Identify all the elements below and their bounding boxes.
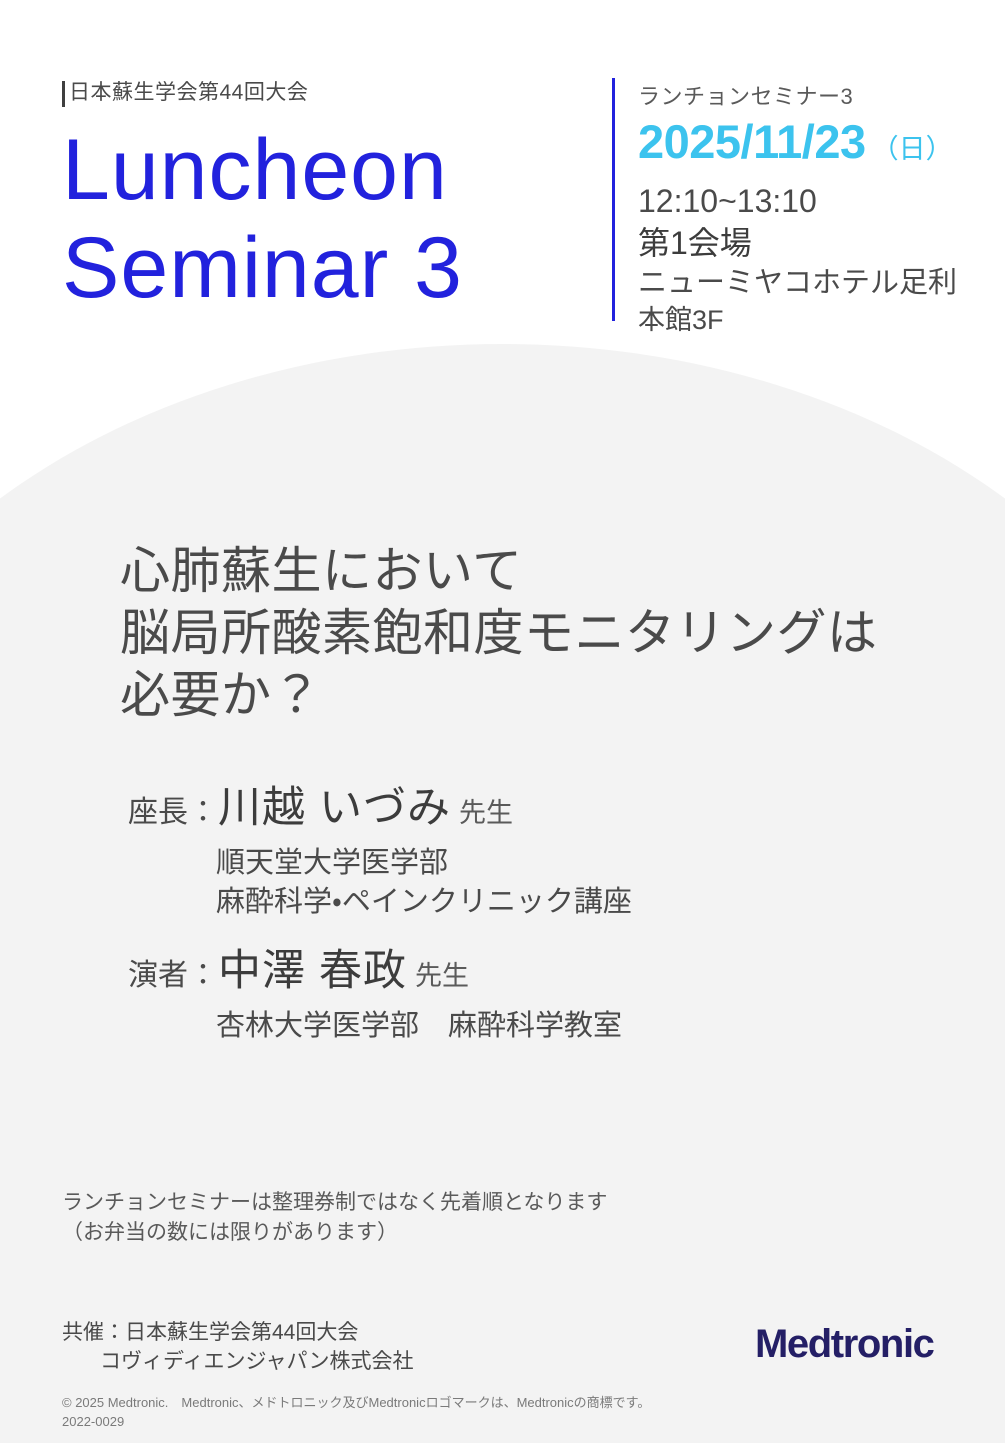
notes-line-1: ランチョンセミナーは整理券制ではなく先着順となります (62, 1188, 762, 1218)
speaker-honorific: 先生 (415, 961, 469, 991)
sponsor-block: 共催：日本蘇生学会第44回大会 コヴィディエンジャパン株式会社 (62, 1318, 414, 1376)
speaker-name: 中澤 春政 (218, 947, 407, 995)
lecture-title-line-3: 必要か？ (120, 664, 960, 726)
speaker-affiliation-line-1: 杏林大学医学部 麻酔科学教室 (216, 1007, 928, 1046)
chairperson-affiliation-line-1: 順天堂大学医学部 (216, 844, 928, 883)
speaker-role-label: 演者： (128, 959, 218, 992)
sponsor-line-1: 共催：日本蘇生学会第44回大会 (62, 1318, 414, 1347)
chairperson-block: 座長：川越 いづみ先生 順天堂大学医学部 麻酔科学・ペインクリニック講座 (128, 782, 928, 922)
chairperson-name-line: 座長：川越 いづみ先生 (128, 782, 928, 844)
chairperson-name: 川越 いづみ (218, 784, 451, 832)
speaker-name-line: 演者：中澤 春政先生 (128, 945, 928, 1007)
medtronic-logo: Medtronic (755, 1322, 934, 1367)
copyright-line-1: © 2025 Medtronic. Medtronic、メドトロニック及びMed… (62, 1393, 650, 1412)
speaker-block: 演者：中澤 春政先生 杏林大学医学部 麻酔科学教室 (128, 945, 928, 1046)
lecture-title-line-1: 心肺蘇生において (120, 540, 960, 602)
notes-line-2: （お弁当の数には限りがあります） (62, 1218, 762, 1248)
seminar-notes: ランチョンセミナーは整理券制ではなく先着順となります （お弁当の数には限りがあり… (62, 1188, 762, 1248)
chairperson-role-label: 座長： (128, 796, 218, 829)
copyright-line-2: 2022-0029 (62, 1412, 650, 1431)
lecture-title: 心肺蘇生において 脳局所酸素飽和度モニタリングは 必要か？ (120, 540, 960, 726)
poster-content: 心肺蘇生において 脳局所酸素飽和度モニタリングは 必要か？ 座長：川越 いづみ先… (0, 0, 1005, 1443)
chairperson-honorific: 先生 (459, 798, 513, 828)
sponsor-line-2: コヴィディエンジャパン株式会社 (62, 1347, 414, 1376)
chairperson-affiliation-line-2: 麻酔科学・ペインクリニック講座 (216, 883, 928, 922)
copyright-block: © 2025 Medtronic. Medtronic、メドトロニック及びMed… (62, 1393, 650, 1431)
seminar-poster: 日本蘇生学会第44回大会 Luncheon Seminar 3 ランチョンセミナ… (0, 0, 1005, 1443)
lecture-title-line-2: 脳局所酸素飽和度モニタリングは (120, 602, 960, 664)
